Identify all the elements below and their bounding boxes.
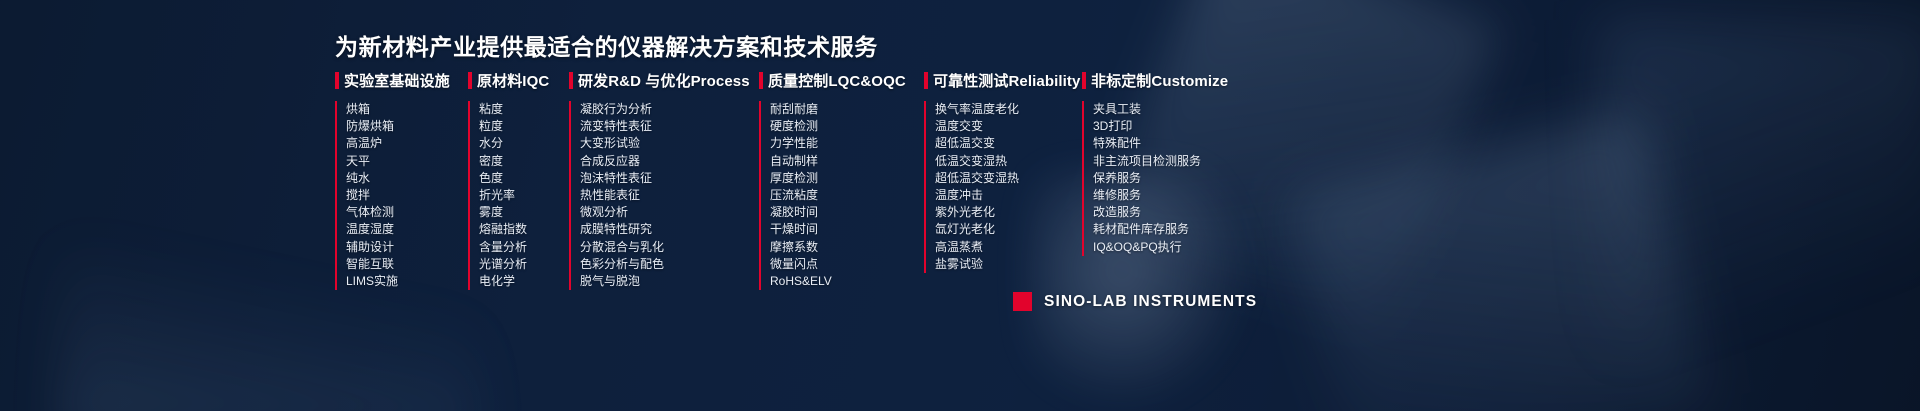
list-item[interactable]: 保养服务 [1093, 170, 1282, 187]
list-item[interactable]: LIMS实施 [346, 273, 468, 290]
category-header-label: 研发R&D 与优化Process [578, 70, 750, 91]
list-item[interactable]: 高温炉 [346, 135, 468, 152]
list-item[interactable]: 气体检测 [346, 204, 468, 221]
category-header: 原材料IQC [468, 70, 569, 91]
list-item[interactable]: 3D打印 [1093, 118, 1282, 135]
list-item[interactable]: 防爆烘箱 [346, 118, 468, 135]
list-item[interactable]: 超低温交变湿热 [935, 170, 1082, 187]
category-item-list: 凝胶行为分析 流变特性表征 大变形试验 合成反应器 泡沫特性表征 热性能表征 微… [569, 101, 759, 290]
category-header-label: 实验室基础设施 [344, 70, 450, 91]
category-column-customize: 非标定制Customize 夹具工装 3D打印 特殊配件 非主流项目检测服务 保… [1082, 70, 1282, 256]
category-header-label: 质量控制LQC&OQC [768, 70, 906, 91]
list-item[interactable]: 微观分析 [580, 204, 759, 221]
list-item[interactable]: 含量分析 [479, 239, 569, 256]
category-item-list: 换气率温度老化 温度交变 超低温交变 低温交变湿热 超低温交变湿热 温度冲击 紫… [924, 101, 1082, 273]
red-bar-icon [759, 72, 763, 89]
list-item[interactable]: 温度冲击 [935, 187, 1082, 204]
list-item[interactable]: 脱气与脱泡 [580, 273, 759, 290]
list-item[interactable]: 维修服务 [1093, 187, 1282, 204]
list-item[interactable]: 成膜特性研究 [580, 221, 759, 238]
category-item-list: 粘度 粒度 水分 密度 色度 折光率 雾度 熔融指数 含量分析 光谱分析 电化学 [468, 101, 569, 290]
category-column-reliability: 可靠性测试Reliability 换气率温度老化 温度交变 超低温交变 低温交变… [924, 70, 1082, 273]
list-item[interactable]: 智能互联 [346, 256, 468, 273]
list-item[interactable]: 硬度检测 [770, 118, 924, 135]
category-column-rd-process: 研发R&D 与优化Process 凝胶行为分析 流变特性表征 大变形试验 合成反… [569, 70, 759, 290]
list-item[interactable]: 耗材配件库存服务 [1093, 221, 1282, 238]
list-item[interactable]: 熔融指数 [479, 221, 569, 238]
list-item[interactable]: 摩擦系数 [770, 239, 924, 256]
list-item[interactable]: 凝胶行为分析 [580, 101, 759, 118]
list-item[interactable]: 微量闪点 [770, 256, 924, 273]
list-item[interactable]: 粘度 [479, 101, 569, 118]
list-item[interactable]: 水分 [479, 135, 569, 152]
list-item[interactable]: IQ&OQ&PQ执行 [1093, 239, 1282, 256]
list-item[interactable]: 合成反应器 [580, 153, 759, 170]
list-item[interactable]: 夹具工装 [1093, 101, 1282, 118]
list-item[interactable]: 低温交变湿热 [935, 153, 1082, 170]
list-item[interactable]: 超低温交变 [935, 135, 1082, 152]
category-header: 非标定制Customize [1082, 70, 1282, 91]
list-item[interactable]: 力学性能 [770, 135, 924, 152]
list-item[interactable]: 色彩分析与配色 [580, 256, 759, 273]
page-title: 为新材料产业提供最适合的仪器解决方案和技术服务 [335, 28, 878, 62]
logo-square-icon [1013, 292, 1032, 311]
list-item[interactable]: 烘箱 [346, 101, 468, 118]
red-bar-icon [468, 72, 472, 89]
red-bar-icon [1082, 72, 1086, 89]
red-bar-icon [335, 72, 339, 89]
category-column-lab-infrastructure: 实验室基础设施 烘箱 防爆烘箱 高温炉 天平 纯水 搅拌 气体检测 温度湿度 辅… [335, 70, 468, 290]
list-item[interactable]: 非主流项目检测服务 [1093, 153, 1282, 170]
list-item[interactable]: 氙灯光老化 [935, 221, 1082, 238]
list-item[interactable]: 特殊配件 [1093, 135, 1282, 152]
list-item[interactable]: 耐刮耐磨 [770, 101, 924, 118]
category-item-list: 夹具工装 3D打印 特殊配件 非主流项目检测服务 保养服务 维修服务 改造服务 … [1082, 101, 1282, 256]
list-item[interactable]: 密度 [479, 153, 569, 170]
list-item[interactable]: 凝胶时间 [770, 204, 924, 221]
list-item[interactable]: 流变特性表征 [580, 118, 759, 135]
category-header-label: 非标定制Customize [1091, 70, 1228, 91]
list-item[interactable]: 雾度 [479, 204, 569, 221]
list-item[interactable]: 泡沫特性表征 [580, 170, 759, 187]
list-item[interactable]: 热性能表征 [580, 187, 759, 204]
category-item-list: 烘箱 防爆烘箱 高温炉 天平 纯水 搅拌 气体检测 温度湿度 辅助设计 智能互联… [335, 101, 468, 290]
list-item[interactable]: 辅助设计 [346, 239, 468, 256]
list-item[interactable]: 粒度 [479, 118, 569, 135]
category-header: 研发R&D 与优化Process [569, 70, 759, 91]
list-item[interactable]: RoHS&ELV [770, 273, 924, 290]
list-item[interactable]: 光谱分析 [479, 256, 569, 273]
service-category-columns: 实验室基础设施 烘箱 防爆烘箱 高温炉 天平 纯水 搅拌 气体检测 温度湿度 辅… [335, 70, 1625, 290]
category-header-label: 原材料IQC [477, 70, 549, 91]
list-item[interactable]: 高温蒸煮 [935, 239, 1082, 256]
list-item[interactable]: 换气率温度老化 [935, 101, 1082, 118]
category-item-list: 耐刮耐磨 硬度检测 力学性能 自动制样 厚度检测 压流粘度 凝胶时间 干燥时间 … [759, 101, 924, 290]
red-bar-icon [569, 72, 573, 89]
category-header: 质量控制LQC&OQC [759, 70, 924, 91]
list-item[interactable]: 改造服务 [1093, 204, 1282, 221]
category-header: 可靠性测试Reliability [924, 70, 1082, 91]
list-item[interactable]: 大变形试验 [580, 135, 759, 152]
brand-name: SINO-LAB INSTRUMENTS [1044, 293, 1257, 311]
list-item[interactable]: 盐雾试验 [935, 256, 1082, 273]
category-column-quality-control: 质量控制LQC&OQC 耐刮耐磨 硬度检测 力学性能 自动制样 厚度检测 压流粘… [759, 70, 924, 290]
list-item[interactable]: 色度 [479, 170, 569, 187]
banner-content: 为新材料产业提供最适合的仪器解决方案和技术服务 实验室基础设施 烘箱 防爆烘箱 … [0, 0, 1920, 411]
list-item[interactable]: 自动制样 [770, 153, 924, 170]
red-bar-icon [924, 72, 928, 89]
list-item[interactable]: 厚度检测 [770, 170, 924, 187]
list-item[interactable]: 天平 [346, 153, 468, 170]
brand-logo[interactable]: SINO-LAB INSTRUMENTS [1013, 292, 1257, 311]
list-item[interactable]: 温度湿度 [346, 221, 468, 238]
category-header-label: 可靠性测试Reliability [933, 70, 1080, 91]
list-item[interactable]: 纯水 [346, 170, 468, 187]
category-column-raw-material-iqc: 原材料IQC 粘度 粒度 水分 密度 色度 折光率 雾度 熔融指数 含量分析 光… [468, 70, 569, 290]
list-item[interactable]: 折光率 [479, 187, 569, 204]
category-header: 实验室基础设施 [335, 70, 468, 91]
list-item[interactable]: 分散混合与乳化 [580, 239, 759, 256]
list-item[interactable]: 温度交变 [935, 118, 1082, 135]
list-item[interactable]: 压流粘度 [770, 187, 924, 204]
list-item[interactable]: 搅拌 [346, 187, 468, 204]
list-item[interactable]: 紫外光老化 [935, 204, 1082, 221]
list-item[interactable]: 干燥时间 [770, 221, 924, 238]
list-item[interactable]: 电化学 [479, 273, 569, 290]
